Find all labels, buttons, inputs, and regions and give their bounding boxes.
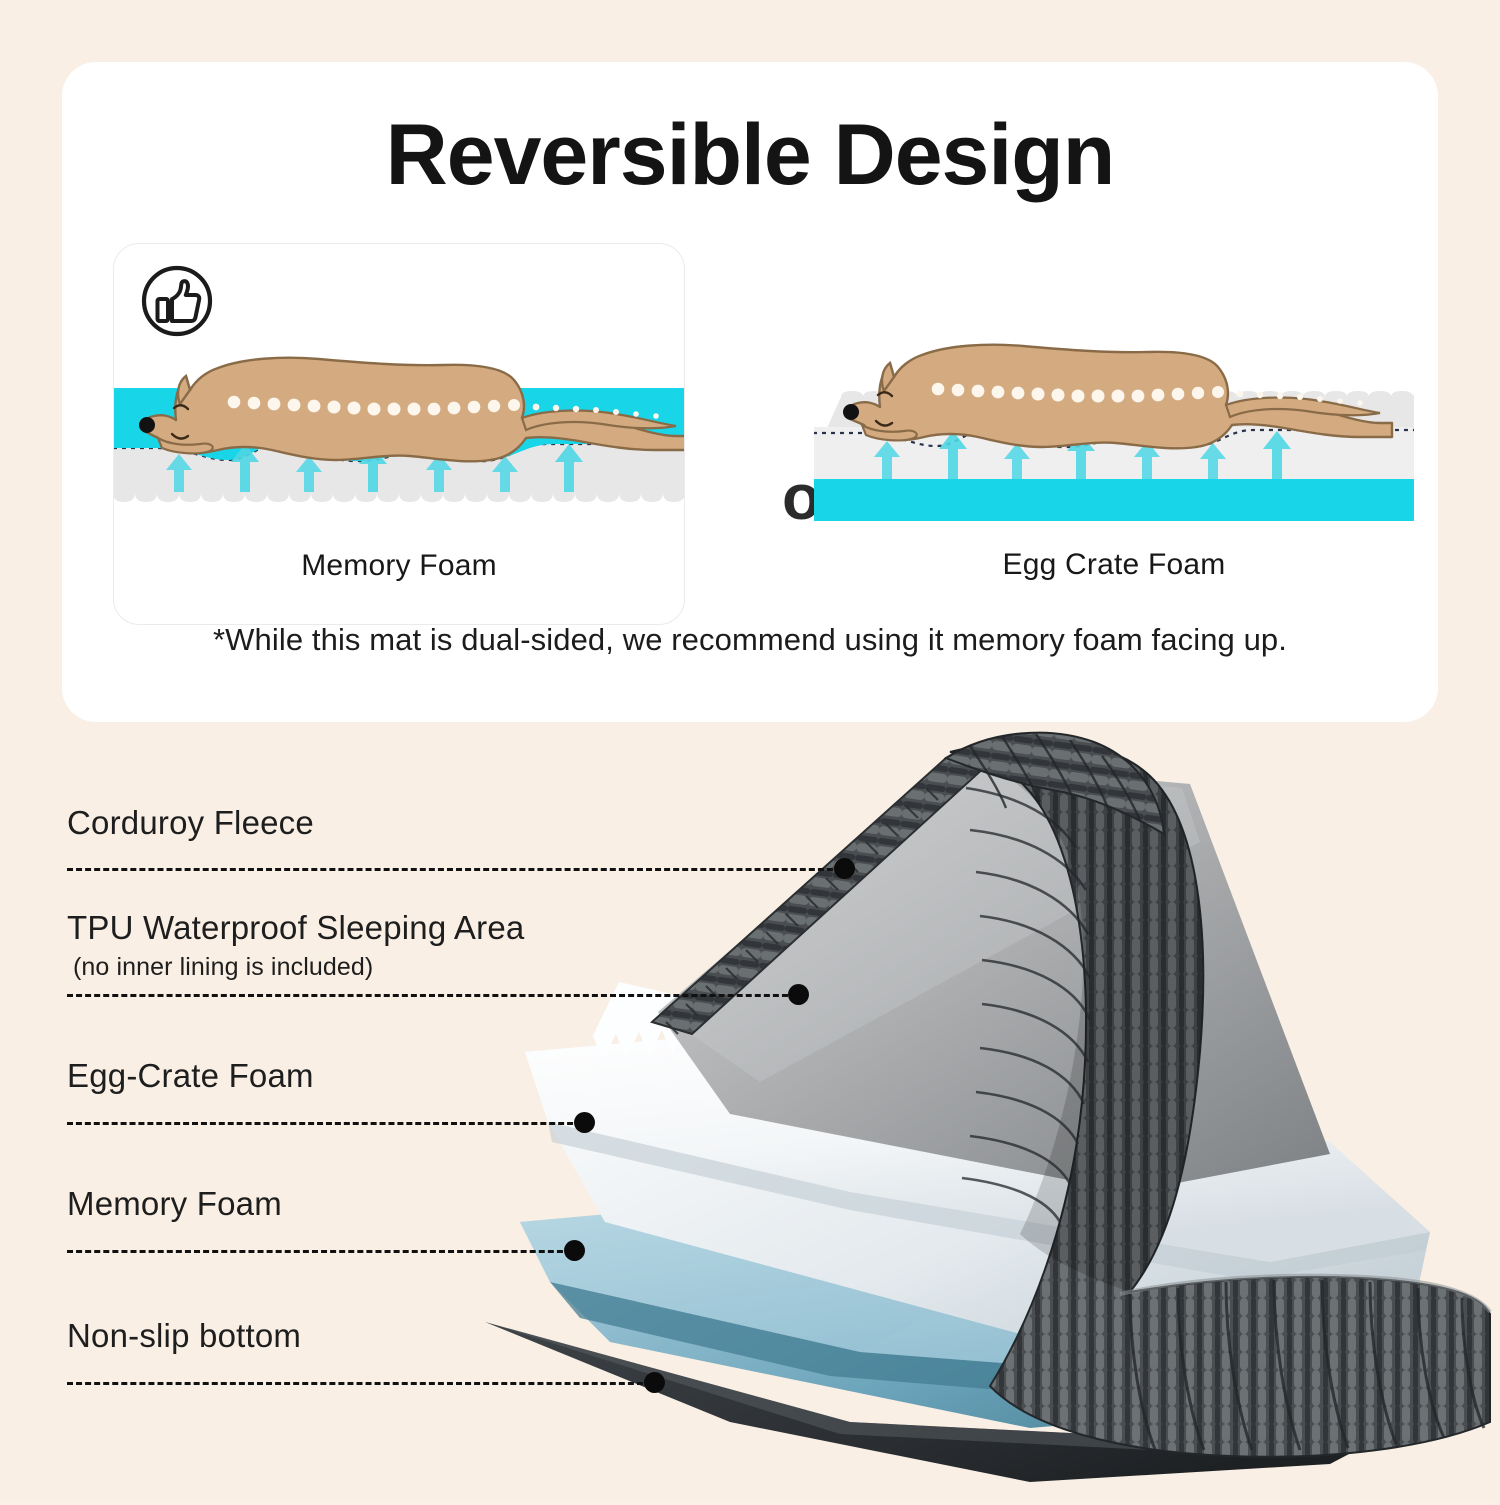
layer-sublabel: (no inner lining is included) xyxy=(73,953,524,982)
leader-dot-egg-crate-foam xyxy=(574,1112,595,1133)
callout-egg-crate-foam: Egg-Crate Foam xyxy=(67,1057,314,1095)
leader-line-non-slip-bottom xyxy=(67,1382,652,1385)
leader-dot-corduroy-fleece xyxy=(834,858,855,879)
callout-non-slip-bottom: Non-slip bottom xyxy=(67,1317,301,1355)
thumbs-up-icon xyxy=(140,264,214,338)
leader-line-tpu-waterproof xyxy=(67,994,797,997)
memory-foam-panel: Memory Foam xyxy=(113,243,685,625)
memory-foam-label: Memory Foam xyxy=(114,549,684,583)
layer-breakdown-section: Corduroy Fleece TPU Waterproof Sleeping … xyxy=(0,722,1500,1500)
layer-label: Non-slip bottom xyxy=(67,1317,301,1355)
callout-corduroy-fleece: Corduroy Fleece xyxy=(67,804,314,842)
egg-crate-foam-illustration xyxy=(814,331,1414,531)
egg-crate-foam-label: Egg Crate Foam xyxy=(814,548,1414,582)
layer-label: TPU Waterproof Sleeping Area xyxy=(67,909,524,947)
callout-memory-foam: Memory Foam xyxy=(67,1185,282,1223)
memory-foam-illustration xyxy=(114,332,685,532)
layer-label: Corduroy Fleece xyxy=(67,804,314,842)
callout-tpu-waterproof: TPU Waterproof Sleeping Area (no inner l… xyxy=(67,909,524,982)
leader-line-corduroy-fleece xyxy=(67,868,842,871)
dual-sided-footnote: *While this mat is dual-sided, we recomm… xyxy=(62,622,1438,658)
leader-line-egg-crate-foam xyxy=(67,1122,582,1125)
leader-dot-tpu-waterproof xyxy=(788,984,809,1005)
leader-dot-non-slip-bottom xyxy=(644,1372,665,1393)
reversible-design-card: Reversible Design xyxy=(62,62,1438,722)
layer-label: Egg-Crate Foam xyxy=(67,1057,314,1095)
leader-dot-memory-foam xyxy=(564,1240,585,1261)
layer-label: Memory Foam xyxy=(67,1185,282,1223)
page-title: Reversible Design xyxy=(62,106,1438,205)
infographic-root: Reversible Design xyxy=(0,0,1500,1500)
leader-line-memory-foam xyxy=(67,1250,572,1253)
